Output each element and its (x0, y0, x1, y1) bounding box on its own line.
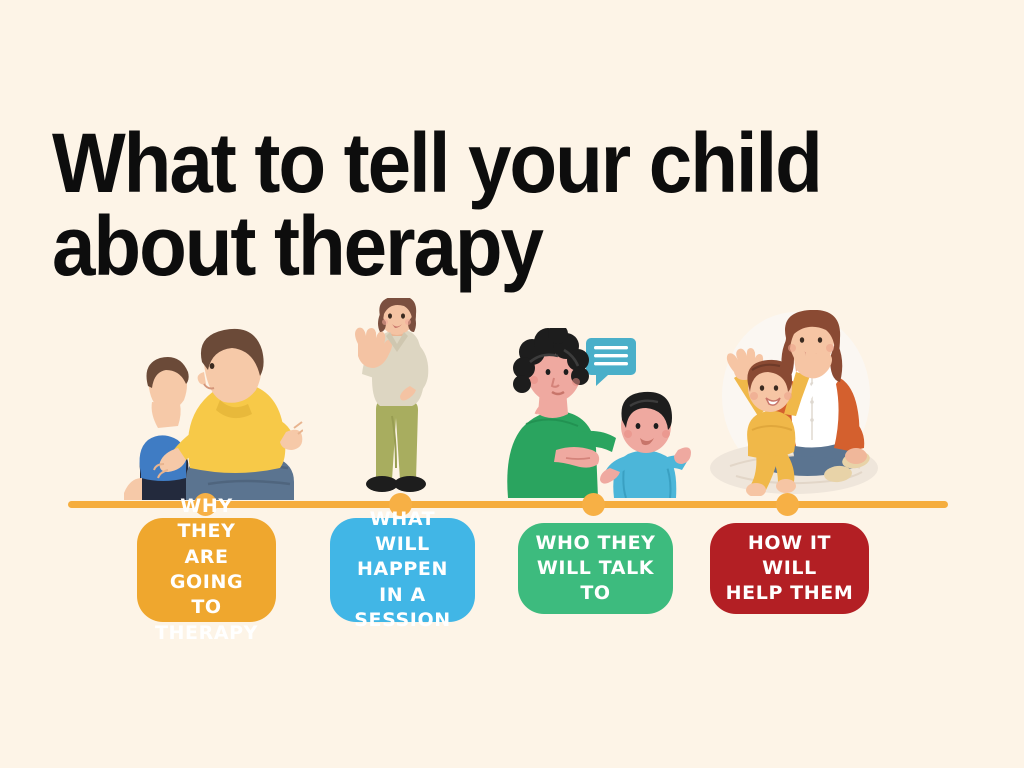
timeline-dot-3[interactable] (582, 493, 605, 516)
illustration-mother-and-child-with-speech-bubble (496, 328, 691, 498)
illustration-father-and-child-talking (108, 328, 303, 500)
illustration-therapist-waving (346, 298, 446, 498)
infographic-poster: What to tell your child about therapy (0, 0, 1024, 768)
timeline-dot-4[interactable] (776, 493, 799, 516)
card-why-they-are-going-to-therapy[interactable]: WHY THEY ARE GOING TO THERAPY (137, 518, 276, 622)
label-card-row: WHY THEY ARE GOING TO THERAPY WHAT WILL … (0, 518, 1024, 638)
card-how-it-will-help-them[interactable]: HOW IT WILL HELP THEM (710, 523, 869, 614)
page-title: What to tell your child about therapy (52, 122, 917, 288)
card-what-will-happen-in-a-session[interactable]: WHAT WILL HAPPEN IN A SESSION (330, 518, 475, 622)
illustration-row (0, 268, 1024, 500)
card-who-they-will-talk-to[interactable]: WHO THEY WILL TALK TO (518, 523, 673, 614)
speech-bubble-icon (586, 338, 636, 386)
illustration-mother-and-child-celebrating (700, 310, 886, 496)
